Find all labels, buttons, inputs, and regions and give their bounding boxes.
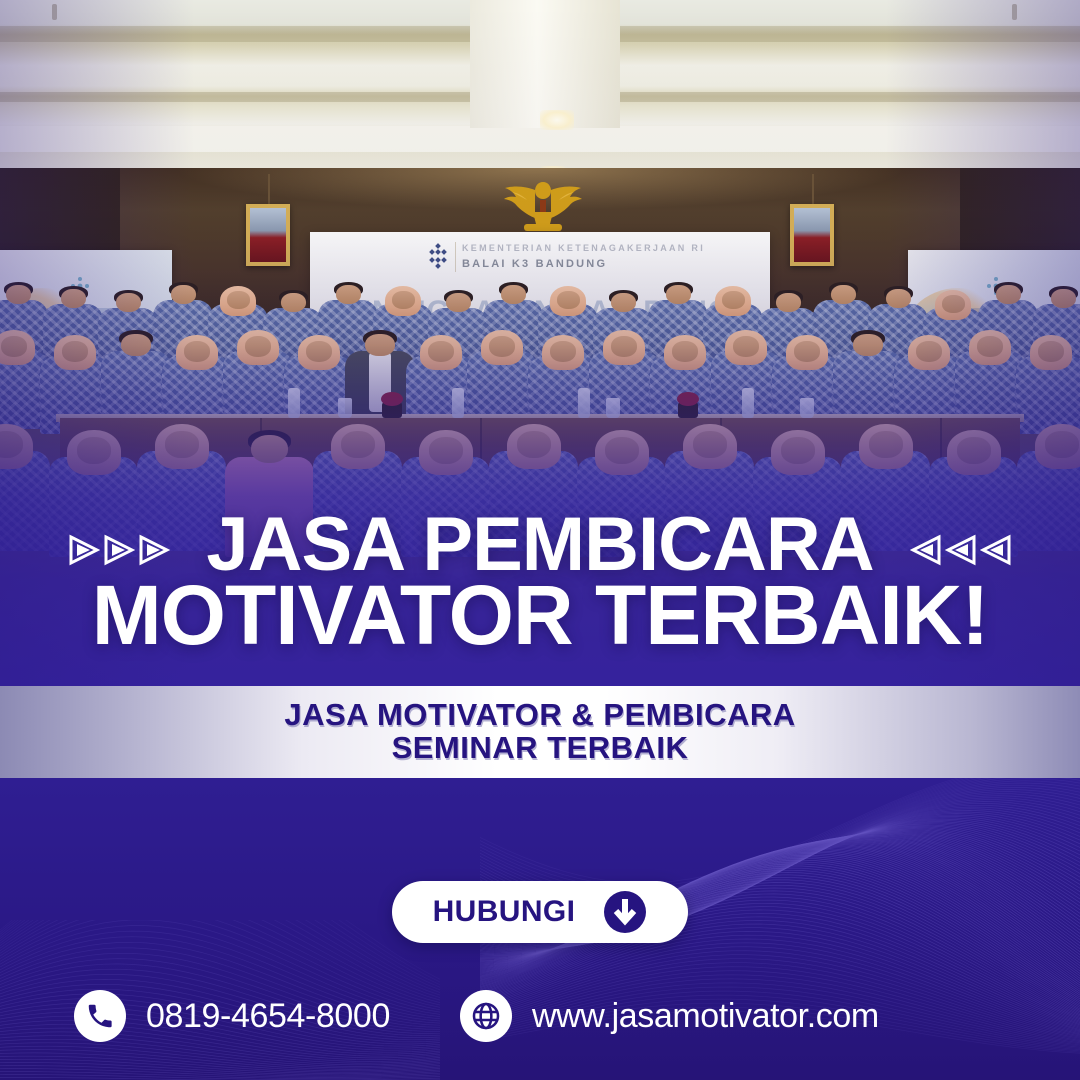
subtitle-line-1: JASA MOTIVATOR & PEMBICARA: [284, 699, 795, 732]
headline-line-2: MOTIVATOR TERBAIK!: [0, 579, 1080, 653]
website-url: www.jasamotivator.com: [532, 997, 879, 1036]
phone-number: 0819-4654-8000: [146, 997, 390, 1036]
contact-bar: 0819-4654-8000 www.jasamotivator.com: [0, 975, 1080, 1057]
cta-label: HUBUNGI: [433, 895, 576, 929]
arrow-down-circle-icon[interactable]: [603, 890, 647, 934]
subtitle-line-2: SEMINAR TERBAIK: [392, 732, 689, 765]
contact-cta-button[interactable]: HUBUNGI: [392, 881, 688, 943]
phone-icon: [74, 990, 126, 1042]
promotional-poster: KEMENTERIAN KETENAGAKERJAAN RI BALAI K3 …: [0, 0, 1080, 1080]
contact-phone[interactable]: 0819-4654-8000: [74, 990, 390, 1042]
contact-website[interactable]: www.jasamotivator.com: [460, 990, 879, 1042]
globe-icon: [460, 990, 512, 1042]
subtitle-band: JASA MOTIVATOR & PEMBICARA SEMINAR TERBA…: [0, 686, 1080, 778]
headline: JASA PEMBICARA MOTIVATOR TERBAIK!: [0, 512, 1080, 653]
